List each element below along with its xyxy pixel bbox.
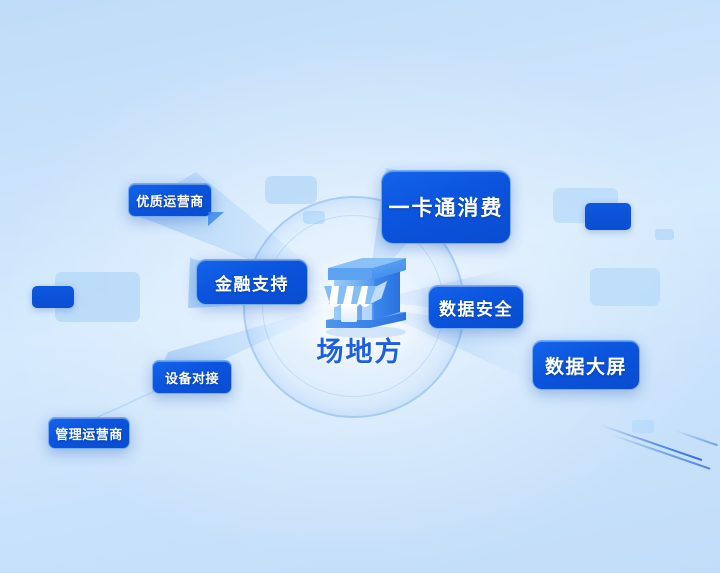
node-chip-financial-support[interactable]: 金融支持 — [196, 259, 308, 305]
node-chip-device-integration[interactable]: 设备对接 — [152, 360, 232, 394]
infographic-canvas: 场地方 优质运营商 金融支持 设备对接 管理运营商 一卡通消费 数据安全 数据大… — [0, 0, 720, 573]
node-chip-data-dashboard[interactable]: 数据大屏 — [532, 340, 640, 390]
decorative-rect-1 — [265, 176, 317, 204]
decorative-rect-6 — [655, 229, 674, 240]
node-chip-tail-premium-operator — [208, 212, 224, 226]
node-chip-label: 一卡通消费 — [389, 192, 504, 222]
node-chip-one-card-payment[interactable]: 一卡通消费 — [381, 170, 511, 244]
decorative-solid-rect-right — [585, 203, 631, 230]
node-chip-premium-operator[interactable]: 优质运营商 — [128, 183, 212, 217]
node-chip-label: 设备对接 — [165, 368, 219, 387]
node-chip-label: 优质运营商 — [136, 191, 204, 210]
node-chip-label: 管理运营商 — [55, 424, 123, 443]
node-chip-label: 数据安全 — [439, 295, 513, 320]
streak-line-2 — [612, 434, 711, 470]
node-chip-management-operator[interactable]: 管理运营商 — [48, 417, 130, 449]
streak-line-3 — [676, 430, 718, 446]
decorative-solid-rect-left — [32, 286, 74, 308]
node-chip-label: 数据大屏 — [545, 352, 627, 379]
decorative-rect-7 — [632, 420, 654, 433]
decorative-rect-5 — [590, 268, 660, 306]
storefront-icon — [310, 246, 418, 338]
node-chip-data-security[interactable]: 数据安全 — [428, 285, 524, 329]
node-chip-label: 金融支持 — [215, 270, 289, 295]
